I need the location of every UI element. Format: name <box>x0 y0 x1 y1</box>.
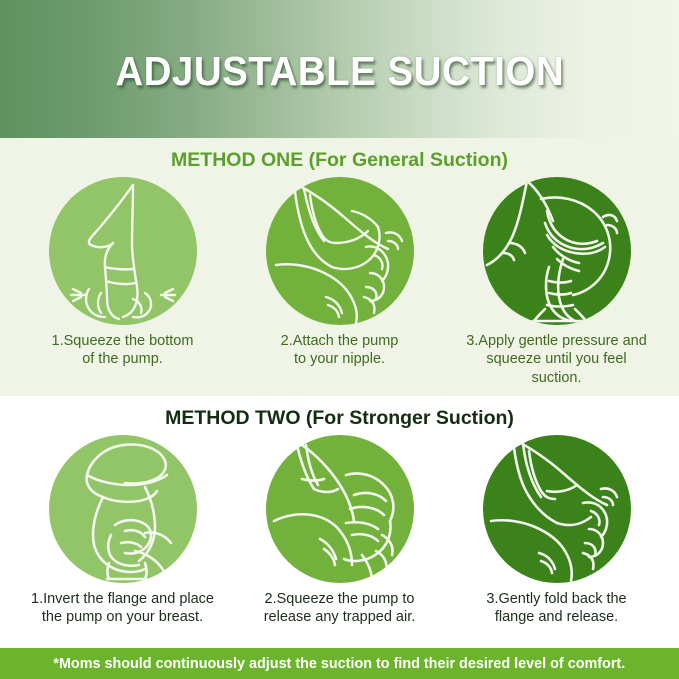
squeeze-pump-bottom-icon <box>49 177 197 325</box>
invert-flange-icon <box>49 435 197 583</box>
fold-back-flange-icon <box>483 435 631 583</box>
squeeze-release-air-icon <box>266 435 414 583</box>
method-two-step-1: 1.Invert the flange and place the pump o… <box>20 435 225 627</box>
method-two-steps: 1.Invert the flange and place the pump o… <box>0 435 679 627</box>
header-banner: ADJUSTABLE SUCTION <box>0 0 679 138</box>
method-two-step-2-caption: 2.Squeeze the pump to release any trappe… <box>264 590 416 627</box>
method-two-section: METHOD TWO (For Stronger Suction) <box>0 396 679 648</box>
method-two-step-3-caption: 3.Gently fold back the flange and releas… <box>486 590 626 627</box>
method-two-step-2: 2.Squeeze the pump to release any trappe… <box>237 435 442 627</box>
method-one-step-1-caption: 1.Squeeze the bottom of the pump. <box>52 332 194 369</box>
method-one-step-1: 1.Squeeze the bottom of the pump. <box>20 177 225 387</box>
method-one-steps: 1.Squeeze the bottom of the pump. <box>0 177 679 387</box>
footer-banner: *Moms should continuously adjust the suc… <box>0 648 679 679</box>
attach-pump-to-nipple-icon <box>266 177 414 325</box>
footer-note: *Moms should continuously adjust the suc… <box>54 656 626 672</box>
adjustable-suction-infographic: ADJUSTABLE SUCTION METHOD ONE (For Gener… <box>0 0 679 679</box>
page-title: ADJUSTABLE SUCTION <box>115 48 564 95</box>
method-one-step-2: 2.Attach the pump to your nipple. <box>237 177 442 387</box>
method-one-step-3-caption: 3.Apply gentle pressure and squeeze unti… <box>466 332 647 387</box>
method-two-step-1-caption: 1.Invert the flange and place the pump o… <box>31 590 214 627</box>
apply-gentle-pressure-icon <box>483 177 631 325</box>
method-one-step-3: 3.Apply gentle pressure and squeeze unti… <box>454 177 659 387</box>
method-one-section: METHOD ONE (For General Suction) <box>0 138 679 396</box>
method-one-step-2-caption: 2.Attach the pump to your nipple. <box>281 332 399 369</box>
method-one-heading: METHOD ONE (For General Suction) <box>171 149 508 172</box>
method-two-step-3: 3.Gently fold back the flange and releas… <box>454 435 659 627</box>
method-two-heading: METHOD TWO (For Stronger Suction) <box>165 407 514 430</box>
